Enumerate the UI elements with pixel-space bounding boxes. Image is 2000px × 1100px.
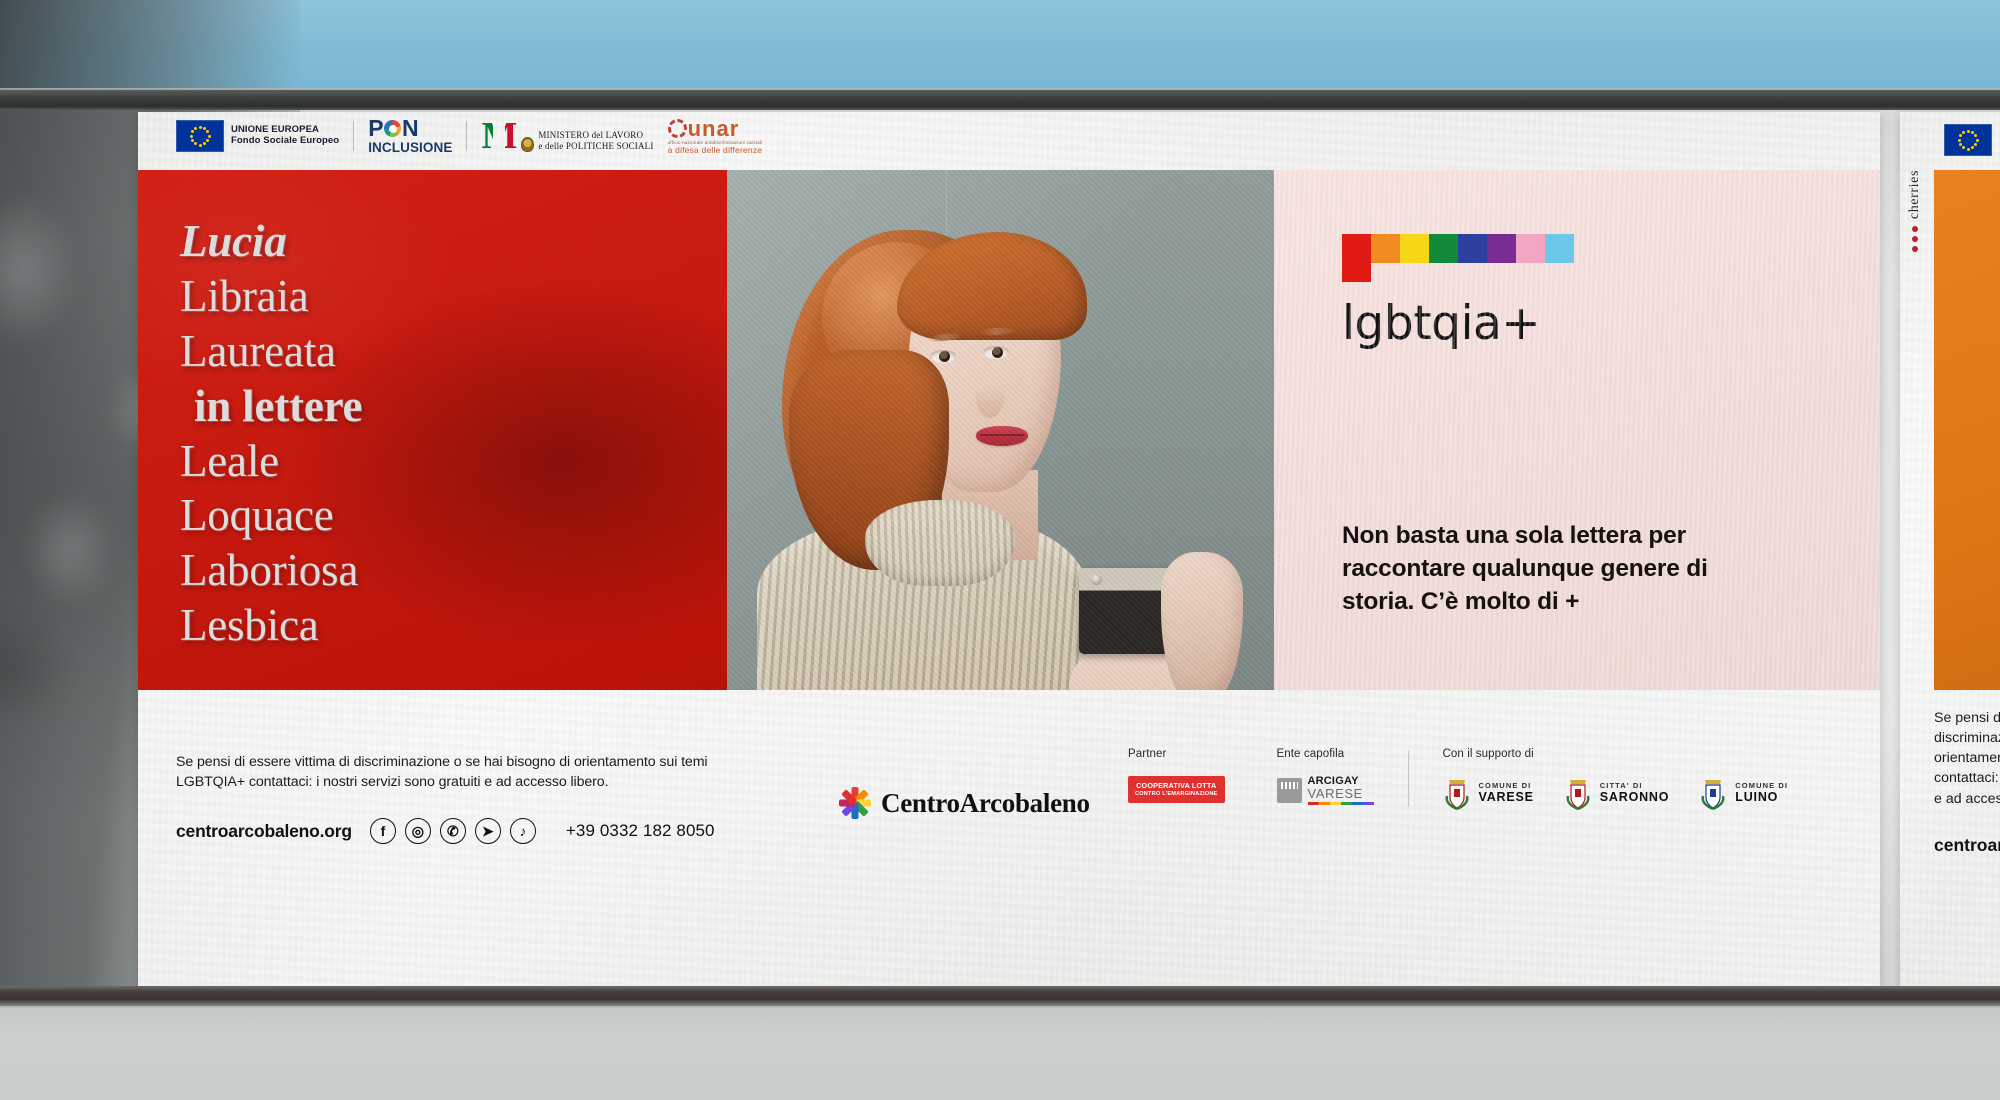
flag-block-0	[1342, 234, 1371, 282]
lgbtqia-wordmark: lgbtqia+	[1342, 300, 1880, 347]
cherries-dots-right	[1912, 226, 1918, 252]
footer-contact-row: centroarcobaleno.org f ◎ ✆ ➤ ♪ +39 0332 …	[176, 818, 766, 844]
portrait-photo-panel	[727, 170, 1274, 690]
unar-wordmark: unar	[688, 118, 740, 140]
partner-logos: Partner COOPERATIVA LOTTA CONTRO L'EMARG…	[1128, 748, 1788, 810]
coop-line1: COOPERATIVA LOTTA	[1135, 781, 1218, 791]
portrait-turtleneck-collar	[865, 500, 1015, 586]
portrait-lips	[976, 426, 1028, 446]
pupil	[939, 351, 950, 362]
partner-logo-row: COOPERATIVA LOTTA CONTRO L'EMARGINAZIONE	[1128, 776, 1225, 803]
ente-capofila-label: Ente capofila	[1277, 748, 1374, 760]
partner-group-ente-capofila: Ente capofila ARCIGAY VARESE	[1277, 748, 1374, 805]
logo-divider	[353, 121, 354, 151]
billboard-frame-top	[0, 90, 2000, 112]
eu-star	[1971, 131, 1974, 134]
cherries-label-right: cherries	[1907, 170, 1923, 219]
right-description: Se pensi di essere vittima di discrimina…	[1934, 708, 2000, 809]
social-icons: f ◎ ✆ ➤ ♪	[370, 818, 536, 844]
logo-comune-di-varese: COMUNE DI VARESE	[1443, 776, 1534, 810]
poster-footer: Se pensi di essere vittima di discrimina…	[138, 690, 1880, 988]
partner-label: Partner	[1128, 748, 1225, 760]
eu-star	[1959, 143, 1962, 146]
cherry-dot	[1912, 226, 1918, 232]
luino-text: COMUNE DI LUINO	[1735, 782, 1788, 805]
luino-line1: COMUNE DI	[1735, 782, 1788, 791]
logo-citta-di-saronno: CITTA' DI SARONNO	[1564, 776, 1670, 810]
lgbtqia-flag-icon	[1342, 234, 1880, 282]
logo-pon-inclusione: PN INCLUSIONE	[368, 117, 452, 155]
arcigay-building-icon	[1277, 778, 1302, 803]
pupil	[992, 347, 1003, 358]
portrait-hand	[1161, 552, 1243, 690]
billboard-scene: UNIONE EUROPEA Fondo Sociale Europeo PN …	[0, 0, 2000, 1100]
logo-ministero: M MINISTERO del LAVORO e delle POLITICHE…	[481, 120, 653, 152]
portrait-eye-right	[983, 346, 1009, 359]
pon-p: P	[368, 117, 383, 140]
ministero-line2: e delle POLITICHE SOCIALI	[538, 141, 653, 152]
brand-name: CentroArcobaleno	[881, 788, 1090, 819]
ministero-line1: MINISTERO del LAVORO	[538, 130, 653, 141]
eu-star	[199, 144, 202, 147]
pon-circle-icon	[384, 120, 401, 137]
cherries-mark-right: cherries	[1902, 170, 1928, 360]
red-word-leale: Leale	[180, 434, 727, 489]
luino-crest-icon	[1699, 776, 1727, 810]
right-website[interactable]: centroarcobaleno.org	[1934, 835, 2000, 856]
flag-block-4	[1458, 234, 1487, 263]
footer-description: Se pensi di essere vittima di discrimina…	[176, 752, 766, 792]
saronno-line1: CITTA' DI	[1600, 782, 1670, 791]
right-eu-flag	[1944, 124, 1992, 156]
unar-circle-icon	[668, 119, 687, 138]
supporto-label: Con il supporto di	[1443, 748, 1789, 760]
partner-group-partner: Partner COOPERATIVA LOTTA CONTRO L'EMARG…	[1128, 748, 1225, 803]
eu-star	[194, 127, 197, 130]
tiktok-icon[interactable]: ♪	[510, 818, 536, 844]
crest-svg	[1443, 776, 1471, 810]
flag-block-6	[1516, 234, 1545, 263]
flag-block-5	[1487, 234, 1516, 263]
eu-star	[191, 130, 194, 133]
website-link[interactable]: centroarcobaleno.org	[176, 821, 352, 842]
eu-flag-icon	[176, 120, 224, 152]
eu-star	[1962, 131, 1965, 134]
eu-star	[1962, 146, 1965, 149]
cherry-dot	[1912, 236, 1918, 242]
eu-star	[203, 127, 206, 130]
funder-logo-bar: UNIONE EUROPEA Fondo Sociale Europeo PN …	[138, 112, 1880, 160]
eu-star	[194, 142, 197, 145]
eu-star	[1971, 146, 1974, 149]
eu-star	[1967, 148, 1970, 151]
eu-star	[191, 139, 194, 142]
sky-shadow-overlay	[0, 0, 300, 92]
unar-subtitle-2: a difesa delle differenze	[668, 146, 763, 155]
arcigay-rainbow-bar	[1308, 802, 1374, 805]
logo-unione-europea: UNIONE EUROPEA Fondo Sociale Europeo	[176, 120, 339, 152]
pon-n: N	[402, 117, 418, 140]
eu-star	[206, 130, 209, 133]
facebook-icon[interactable]: f	[370, 818, 396, 844]
supporto-logo-row: COMUNE DI VARESE CITTA' DI SARONNO	[1443, 776, 1789, 810]
partner-group-supporto: Con il supporto di COMUNE DI VARESE	[1443, 748, 1789, 810]
arcigay-text: ARCIGAY VARESE	[1308, 776, 1374, 805]
logo-comune-di-luino: COMUNE DI LUINO	[1699, 776, 1788, 810]
flag-block-1	[1371, 234, 1400, 263]
red-text-panel: Lucia Libraia Laureata in lettere Leale …	[138, 170, 727, 690]
flag-block-7	[1545, 234, 1574, 263]
telegram-icon[interactable]: ➤	[475, 818, 501, 844]
eu-flag-icon-right	[1944, 124, 1992, 156]
saronno-crest-icon	[1564, 776, 1592, 810]
camera-dial	[1091, 574, 1102, 585]
logo-arcigay-varese: ARCIGAY VARESE	[1277, 776, 1374, 805]
footer-contact-block: Se pensi di essere vittima di discrimina…	[176, 752, 766, 844]
right-footer: Se pensi di essere vittima di discrimina…	[1934, 708, 2000, 856]
pink-panel-body-text: Non basta una sola lettera per raccontar…	[1342, 519, 1772, 618]
ground-surface	[0, 1008, 2000, 1100]
varese-line1: COMUNE DI	[1479, 782, 1534, 791]
right-orange-panel	[1934, 170, 2000, 690]
eu-star	[1974, 134, 1977, 137]
eu-star	[1958, 139, 1961, 142]
partner-divider	[1408, 751, 1409, 807]
red-word-loquace: Loquace	[180, 488, 727, 543]
logo-unar: unar ufficio nazionale antidiscriminazio…	[668, 118, 763, 155]
saronno-text: CITTA' DI SARONNO	[1600, 782, 1670, 805]
varese-text: COMUNE DI VARESE	[1479, 782, 1534, 805]
whatsapp-icon[interactable]: ✆	[440, 818, 466, 844]
eu-star	[1976, 139, 1979, 142]
flag-block-3	[1429, 234, 1458, 263]
portrait-nose	[975, 366, 1005, 418]
eu-star	[208, 135, 211, 138]
pon-subtitle: INCLUSIONE	[368, 141, 452, 155]
poster-next-partial: cherries Se pensi di essere vittima di d…	[1900, 112, 2000, 988]
instagram-icon[interactable]: ◎	[405, 818, 431, 844]
red-word-in-lettere: in lettere	[180, 379, 727, 434]
red-word-libraia: Libraia	[180, 269, 727, 324]
coop-line2: CONTRO L'EMARGINAZIONE	[1135, 791, 1218, 799]
sky-background	[0, 0, 2000, 92]
pon-wordmark: PN	[368, 117, 452, 140]
eu-star	[206, 139, 209, 142]
red-word-laureata: Laureata	[180, 324, 727, 379]
phone-number[interactable]: +39 0332 182 8050	[566, 821, 715, 841]
centro-arcobaleno-logo: CentroArcobaleno	[838, 786, 1090, 820]
ministero-text: MINISTERO del LAVORO e delle POLITICHE S…	[538, 130, 653, 153]
red-word-lesbica: Lesbica	[180, 598, 727, 653]
poster-main: UNIONE EUROPEA Fondo Sociale Europeo PN …	[138, 112, 1880, 988]
logo-divider-2	[466, 121, 467, 151]
logo-cooperativa-lotta: COOPERATIVA LOTTA CONTRO L'EMARGINAZIONE	[1128, 776, 1225, 803]
red-word-laboriosa: Laboriosa	[180, 543, 727, 598]
eu-star	[1974, 143, 1977, 146]
eu-text: UNIONE EUROPEA Fondo Sociale Europeo	[231, 125, 339, 147]
eu-star	[203, 142, 206, 145]
unar-row: unar	[668, 118, 763, 140]
arcigay-line2: VARESE	[1308, 787, 1374, 800]
luino-line2: LUINO	[1735, 790, 1788, 804]
crest-svg	[1699, 776, 1727, 810]
eu-star	[190, 135, 193, 138]
rainbow-burst-icon	[838, 786, 872, 820]
flag-block-2	[1400, 234, 1429, 263]
varese-line2: VARESE	[1479, 790, 1534, 804]
pink-message-panel: lgbtqia+ Non basta una sola lettera per …	[1274, 170, 1880, 690]
eu-line2: Fondo Sociale Europeo	[231, 136, 339, 147]
eu-star	[1959, 134, 1962, 137]
crest-svg	[1564, 776, 1592, 810]
ente-logo-row: ARCIGAY VARESE	[1277, 776, 1374, 805]
saronno-line2: SARONNO	[1600, 790, 1670, 804]
cherry-dot	[1912, 246, 1918, 252]
varese-crest-icon	[1443, 776, 1471, 810]
billboard-frame-bottom	[0, 986, 2000, 1008]
repubblica-emblem-icon	[521, 137, 534, 152]
eu-star	[1967, 130, 1970, 133]
poster-panels: Lucia Libraia Laureata in lettere Leale …	[138, 170, 1880, 690]
ministero-monogram: M	[481, 120, 517, 152]
eu-star	[199, 126, 202, 129]
portrait-eye-left	[930, 350, 956, 363]
red-word-lucia: Lucia	[180, 214, 727, 269]
